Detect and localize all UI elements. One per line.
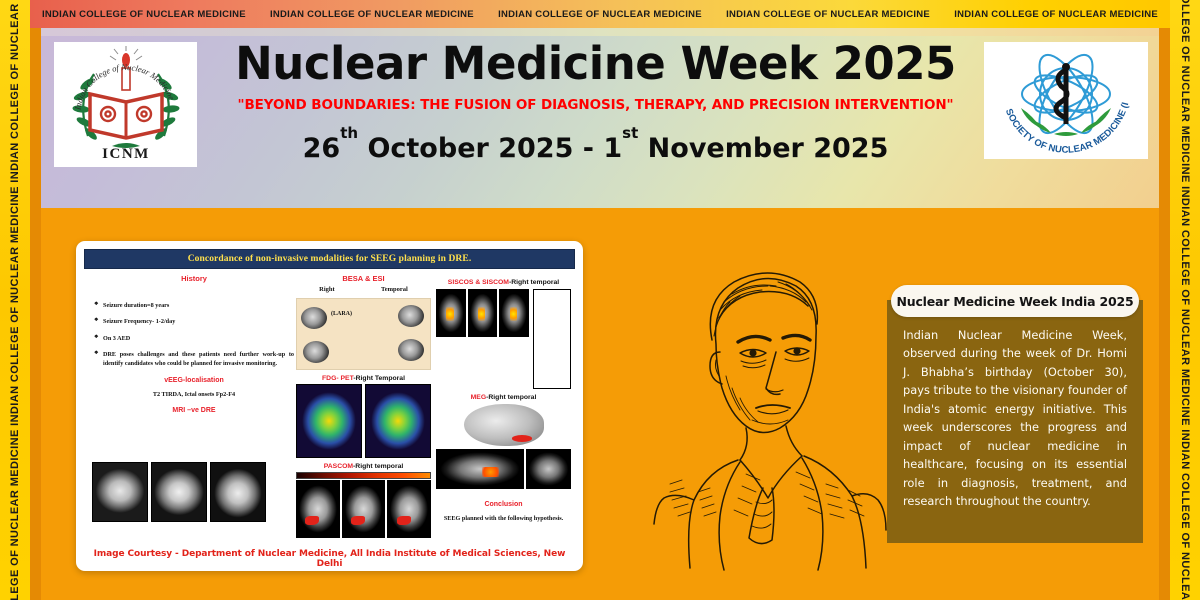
snm-india-logo: SOCIETY OF NUCLEAR MEDICINE (INDIA) <box>984 42 1148 159</box>
mri-scan-image <box>210 462 266 522</box>
poster-image-card: Concordance of non-invasive modalities f… <box>76 241 583 571</box>
icnm-logo: Indian College of Nuclear Medicine ICNM <box>54 42 197 167</box>
besa-lara-label: (LARA) <box>331 311 352 317</box>
poster-besa-column: BESA & ESI Right Temporal (LARA) FDG- PE… <box>296 274 431 538</box>
besa-head-image <box>301 307 327 329</box>
veeg-heading: vEEG-localisation <box>94 377 294 384</box>
pet-scan-image <box>296 384 362 458</box>
history-item: DRE poses challenges and these patients … <box>94 350 294 369</box>
left-inner-band <box>30 0 41 600</box>
siscom-scan-image <box>436 289 466 337</box>
date-end-rest: November 2025 <box>638 133 888 164</box>
pascom-image-row <box>296 480 431 538</box>
right-side-banner: INDIAN COLLEGE OF NUCLEAR MEDICINE INDIA… <box>1170 0 1200 600</box>
conclusion-text: SEEG planned with the following hypothes… <box>436 515 571 522</box>
right-inner-band <box>1159 0 1170 600</box>
besa-head-image <box>398 305 424 327</box>
marquee-label-2: INDIAN COLLEGE OF NUCLEAR MEDICINE <box>270 9 474 20</box>
poster-title-bar: Concordance of non-invasive modalities f… <box>84 249 575 269</box>
poster-history-column: History Seizure duration=8 years Seizure… <box>94 274 294 421</box>
besa-right-label: Right <box>319 286 335 293</box>
left-side-banner: INDIAN COLLEGE OF NUCLEAR MEDICINE INDIA… <box>0 0 30 600</box>
veeg-item: T2 TIRDA, Ictal onsets Fp2-F4 <box>94 391 294 398</box>
page-title: Nuclear Medicine Week 2025 <box>211 40 980 87</box>
fdg-pet-label: FDG- PET-Right Temporal <box>296 375 431 382</box>
date-start-day: 26 <box>303 133 341 164</box>
meg-label-red: MEG <box>471 394 486 401</box>
meg-image-row <box>436 449 571 489</box>
mri-scan-image <box>151 462 207 522</box>
snm-india-logo-icon: SOCIETY OF NUCLEAR MEDICINE (INDIA) <box>991 48 1141 154</box>
info-card-body: Indian Nuclear Medicine Week, observed d… <box>887 300 1143 521</box>
pet-scan-image <box>365 384 431 458</box>
pascom-colorbar <box>296 472 431 479</box>
conclusion-heading: Conclusion <box>436 501 571 508</box>
poster-siscom-column: SISCOS & SISCOM-Right temporal MEG-Right… <box>436 274 571 522</box>
date-start-suffix: th <box>340 124 358 142</box>
meg-label: MEG-Right temporal <box>436 394 571 401</box>
meg-label-black: -Right temporal <box>486 394 536 401</box>
icnm-logo-icon: Indian College of Nuclear Medicine ICNM <box>60 46 192 164</box>
mri-heading: MRI –ve DRE <box>94 407 294 414</box>
mri-scan-image <box>92 462 148 522</box>
marquee-label-3: INDIAN COLLEGE OF NUCLEAR MEDICINE <box>498 9 702 20</box>
info-card: Nuclear Medicine Week India 2025 Indian … <box>887 300 1143 543</box>
meg-brain-render <box>464 404 544 446</box>
history-list: Seizure duration=8 years Seizure Frequen… <box>94 301 294 368</box>
pascom-label: PASCOM-Right temporal <box>296 463 431 470</box>
siscos-label-red: SISCOS & SISCOM <box>448 279 509 286</box>
asclepius-rod-icon <box>1056 63 1070 124</box>
date-end-day: 1 <box>603 133 622 164</box>
siscom-scan-image <box>499 289 529 337</box>
marquee-label-1: INDIAN COLLEGE OF NUCLEAR MEDICINE <box>42 9 246 20</box>
poster-body: History Seizure duration=8 years Seizure… <box>84 274 575 546</box>
date-end-suffix: st <box>622 124 638 142</box>
besa-sub-labels: Right Temporal <box>296 286 431 293</box>
pascom-label-black: -Right temporal <box>353 463 403 470</box>
history-item: Seizure Frequency- 1-2/day <box>94 317 294 326</box>
history-item: On 3 AED <box>94 334 294 343</box>
marquee-label-4: INDIAN COLLEGE OF NUCLEAR MEDICINE <box>726 9 930 20</box>
right-side-banner-text: INDIAN COLLEGE OF NUCLEAR MEDICINE INDIA… <box>1179 0 1191 600</box>
svg-text:ICNM: ICNM <box>102 146 150 162</box>
event-dates: 26th October 2025 - 1st November 2025 <box>211 133 980 164</box>
event-tagline: "BEYOND BOUNDARIES: THE FUSION OF DIAGNO… <box>211 97 980 113</box>
bhabha-portrait-icon <box>620 248 892 578</box>
fdg-pet-label-red: FDG- PET <box>322 375 353 382</box>
date-start-rest: October 2025 - <box>358 133 603 164</box>
history-item: Seizure duration=8 years <box>94 301 294 310</box>
pet-image-row <box>296 384 431 458</box>
info-card-header-pill: Nuclear Medicine Week India 2025 <box>891 285 1139 317</box>
bhabha-portrait <box>620 248 892 578</box>
meg-scan-image <box>436 449 524 489</box>
siscom-scan-image <box>468 289 498 337</box>
header-panel: Indian College of Nuclear Medicine ICNM … <box>41 28 1160 208</box>
besa-head-image <box>398 339 424 361</box>
mri-image-row <box>92 462 266 522</box>
siscos-label-black: -Right temporal <box>509 279 559 286</box>
top-marquee-banner: INDIAN COLLEGE OF NUCLEAR MEDICINE INDIA… <box>30 0 1170 28</box>
fdg-pet-label-black: -Right Temporal <box>353 375 405 382</box>
pascom-panel <box>296 472 431 538</box>
image-courtesy: Image Courtesy - Department of Nuclear M… <box>84 549 575 569</box>
marquee-label-5: INDIAN COLLEGE OF NUCLEAR MEDICINE <box>954 9 1158 20</box>
history-heading: History <box>94 274 294 283</box>
besa-head-image <box>303 341 329 363</box>
meg-scan-image <box>526 449 571 489</box>
pascom-scan-image <box>296 480 340 538</box>
siscom-tall-scan-image <box>533 289 571 389</box>
pascom-label-red: PASCOM <box>324 463 353 470</box>
besa-heading: BESA & ESI <box>296 274 431 283</box>
info-card-heading: Nuclear Medicine Week India 2025 <box>897 294 1134 309</box>
siscos-label: SISCOS & SISCOM-Right temporal <box>436 279 571 286</box>
pascom-scan-image <box>387 480 431 538</box>
pascom-scan-image <box>342 480 386 538</box>
header-center: Nuclear Medicine Week 2025 "BEYOND BOUND… <box>211 40 980 164</box>
besa-temporal-label: Temporal <box>381 286 408 293</box>
left-side-banner-text: INDIAN COLLEGE OF NUCLEAR MEDICINE INDIA… <box>9 0 21 600</box>
besa-image-panel: (LARA) <box>296 298 431 370</box>
siscom-image-row <box>436 289 571 389</box>
